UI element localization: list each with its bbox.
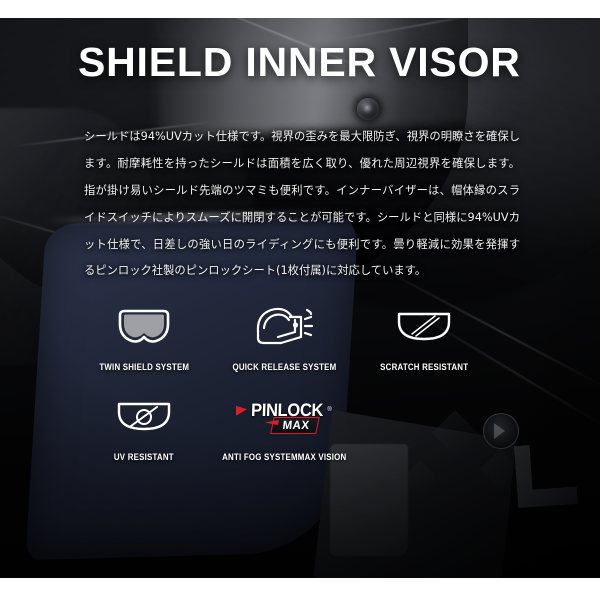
twin-shield-icon [116,300,172,354]
product-feature-banner: SHIELD INNER VISOR シールドは94%UVカット仕様です。視界の… [0,0,600,600]
description-paragraph: シールドは94%UVカット仕様です。視界の歪みを最大限防ぎ、視界の明瞭さを確保し… [84,124,520,285]
pinlock-wordmark-row: PINLOCK ® [236,401,332,419]
feature-label: SCRATCH RESISTANT [380,362,468,372]
feature-twin-shield-system[interactable]: TWIN SHIELD SYSTEM [74,300,214,372]
feature-anti-fog-system-max-vision[interactable]: PINLOCK ® MAX ANTI FOG SYSTEMMAX VISION [214,390,354,462]
feature-label: UV RESISTANT [114,452,174,462]
feature-uv-resistant[interactable]: UV RESISTANT [74,390,214,462]
feature-label: QUICK RELEASE SYSTEM [232,362,336,372]
feature-grid: TWIN SHIELD SYSTEM [74,300,494,462]
page-title: SHIELD INNER VISOR [78,42,521,83]
scratch-resistant-visor-icon [396,300,452,354]
feature-row-1: TWIN SHIELD SYSTEM [74,300,494,372]
feature-quick-release-system[interactable]: QUICK RELEASE SYSTEM [214,300,354,372]
pinlock-max-logo: PINLOCK ® MAX [230,390,338,444]
feature-scratch-resistant[interactable]: SCRATCH RESISTANT [354,300,494,372]
feature-row-2: UV RESISTANT PINLOCK ® MAX [74,390,494,462]
pinlock-logo: PINLOCK ® MAX [230,392,338,442]
pinlock-arrow-icon [236,404,247,416]
registered-trademark-icon: ® [327,407,331,413]
feature-label: TWIN SHIELD SYSTEM [99,362,189,372]
uv-resistant-visor-icon [116,390,172,444]
banner-content: SHIELD INNER VISOR シールドは94%UVカット仕様です。視界の… [0,0,600,600]
pinlock-max-badge: MAX [270,417,320,434]
quick-release-helmet-icon [254,300,314,354]
pinlock-max-text: MAX [282,419,310,432]
feature-label: ANTI FOG SYSTEMMAX VISION [222,452,346,462]
pinlock-brand-text: PINLOCK [251,401,324,419]
